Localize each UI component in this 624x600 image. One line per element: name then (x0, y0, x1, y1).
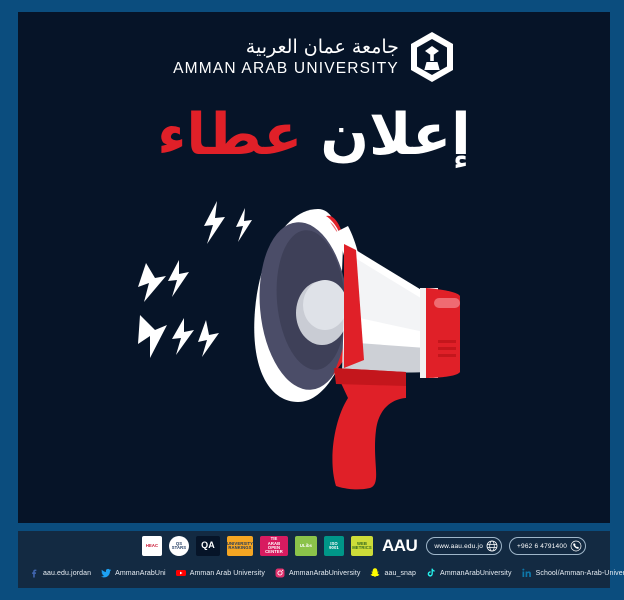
aau-wordmark: AAU (382, 536, 417, 556)
page-title: إعلان عطاء (18, 100, 610, 170)
facebook-icon (28, 567, 40, 579)
website-badge[interactable]: www.aau.edu.jo (426, 537, 502, 555)
brand-name-english: AMMAN ARAB UNIVERSITY (173, 61, 399, 77)
social-handle: AmmanArabUniversity (289, 570, 361, 577)
globe-icon (486, 540, 498, 552)
lightning-bolt-sound-icon (138, 201, 252, 358)
poster-footer: HEAC QS STARS QA UNIVERSITY RANKINGS TIE… (18, 531, 610, 588)
twitter-icon (100, 567, 112, 579)
social-handle: aau_snap (384, 570, 416, 577)
social-link-tiktok[interactable]: AmmanArabUniversity (425, 567, 512, 579)
accreditation-logo: ULibs (295, 536, 317, 556)
poster-card: جامعة عمان العربية AMMAN ARAB UNIVERSITY… (18, 12, 610, 523)
accreditation-logo: ISO 9001 (324, 536, 344, 556)
social-handle: AmmanArabUni (115, 570, 166, 577)
social-handle: School/Amman-Arab-University (536, 570, 624, 577)
youtube-icon (175, 567, 187, 579)
phone-icon (570, 540, 582, 552)
tiktok-icon (425, 567, 437, 579)
social-link-youtube[interactable]: Amman Arab University (175, 567, 265, 579)
snapchat-icon (369, 567, 381, 579)
social-link-snapchat[interactable]: aau_snap (369, 567, 416, 579)
accreditation-logo: UNIVERSITY RANKINGS (227, 536, 253, 556)
accreditation-logo: WEB METRICS (351, 536, 373, 556)
social-link-facebook[interactable]: aau.edu.jordan (28, 567, 91, 579)
instagram-icon (274, 567, 286, 579)
hexagon-university-logo-icon (409, 31, 455, 83)
accreditation-logo: QS STARS (169, 536, 189, 556)
accreditation-logo-row: HEAC QS STARS QA UNIVERSITY RANKINGS TIE… (18, 534, 610, 558)
brand-text-block: جامعة عمان العربية AMMAN ARAB UNIVERSITY (173, 38, 399, 77)
social-handle: AmmanArabUniversity (440, 570, 512, 577)
social-link-instagram[interactable]: AmmanArabUniversity (274, 567, 361, 579)
accreditation-logo: TIE ARAB OPEN CENTER (260, 536, 288, 556)
phone-number: +962 6 4791400 (517, 543, 567, 550)
social-link-twitter[interactable]: AmmanArabUni (100, 567, 166, 579)
website-url: www.aau.edu.jo (434, 543, 483, 550)
accreditation-logo: QA (196, 536, 220, 556)
poster-canvas: جامعة عمان العربية AMMAN ARAB UNIVERSITY… (0, 0, 624, 600)
phone-badge[interactable]: +962 6 4791400 (509, 537, 586, 555)
linkedin-icon (521, 567, 533, 579)
title-word-ealan: إعلان (320, 107, 470, 164)
accreditation-logo: HEAC (142, 536, 162, 556)
megaphone-illustration (138, 192, 498, 502)
title-word-ataa: عطاء (157, 107, 302, 164)
social-links-row: aau.edu.jordan AmmanArabUni Amman Arab U… (18, 561, 610, 585)
social-link-linkedin[interactable]: School/Amman-Arab-University (521, 567, 624, 579)
social-handle: Amman Arab University (190, 570, 265, 577)
university-brand-header: جامعة عمان العربية AMMAN ARAB UNIVERSITY (18, 26, 610, 88)
brand-name-arabic: جامعة عمان العربية (246, 38, 399, 57)
social-handle: aau.edu.jordan (43, 570, 91, 577)
